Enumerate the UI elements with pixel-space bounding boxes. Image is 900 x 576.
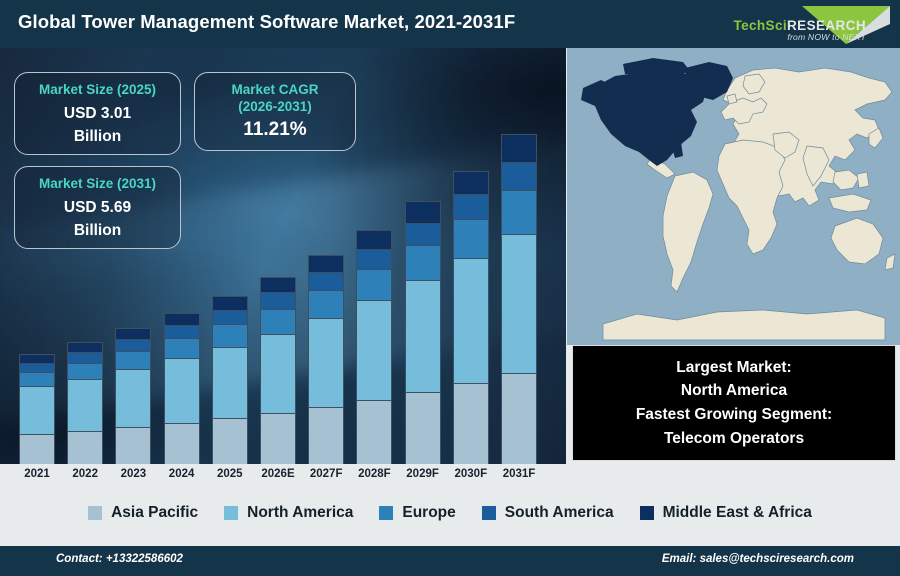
bar-segment-middle-east-africa (212, 296, 248, 309)
bar-segment-middle-east-africa (405, 201, 441, 222)
bar-segment-south-america (212, 310, 248, 324)
bar-segment-europe (115, 351, 151, 369)
bar-segment-south-america (501, 162, 537, 190)
bar-segment-europe (356, 269, 392, 300)
x-axis-labels: 202120222023202420252026E2027F2028F2029F… (0, 464, 566, 492)
stat-card-subtitle: (2026-2031) (195, 99, 355, 116)
stat-card-title: Market Size (2031) (15, 176, 180, 193)
bar-segment-middle-east-africa (67, 342, 103, 352)
bar-2023 (115, 328, 151, 464)
logo-tagline: from NOW to NEXT (787, 32, 866, 42)
bar-segment-asia-pacific (356, 400, 392, 464)
callout-line-3: Fastest Growing Segment: (636, 403, 832, 427)
legend-item-europe[interactable]: Europe (379, 504, 455, 522)
bar-segment-asia-pacific (19, 434, 55, 464)
map-region-uk (727, 94, 737, 104)
legend-swatch-north-america (224, 506, 238, 520)
bar-segment-asia-pacific (501, 373, 537, 464)
bar-segment-middle-east-africa (164, 313, 200, 325)
bar-segment-south-america (260, 292, 296, 308)
header-bar: Global Tower Management Software Market,… (0, 0, 900, 48)
callout-line-4: Telecom Operators (664, 427, 804, 451)
infographic-canvas: Global Tower Management Software Market,… (0, 0, 900, 576)
legend-swatch-south-america (482, 506, 496, 520)
bar-segment-asia-pacific (164, 423, 200, 464)
map-region-philippines (857, 172, 869, 188)
footer-email: Email: sales@techsciresearch.com (662, 553, 854, 565)
bar-segment-south-america (405, 223, 441, 246)
bar-segment-asia-pacific (308, 407, 344, 464)
bar-segment-south-america (453, 194, 489, 219)
bar-segment-europe (501, 190, 537, 233)
stat-card-title: Market Size (2025) (15, 82, 180, 99)
logo-name-part2: RESEARCH (787, 18, 866, 33)
legend-item-middle-east-africa[interactable]: Middle East & Africa (640, 504, 812, 522)
legend-label-south-america: South America (505, 504, 614, 522)
bar-2029F (405, 201, 441, 464)
bar-segment-europe (453, 219, 489, 258)
bar-segment-north-america (164, 358, 200, 422)
bar-segment-europe (212, 324, 248, 347)
bar-segment-middle-east-africa (115, 328, 151, 339)
bar-segment-north-america (405, 280, 441, 391)
bar-segment-asia-pacific (115, 427, 151, 464)
bar-segment-south-america (115, 339, 151, 351)
chart-legend: Asia PacificNorth AmericaEuropeSouth Ame… (0, 492, 900, 534)
bar-segment-asia-pacific (405, 392, 441, 464)
bar-segment-north-america (19, 386, 55, 434)
page-title: Global Tower Management Software Market,… (18, 11, 515, 33)
bar-2031F (501, 134, 537, 464)
stat-card-value: USD 5.69 (15, 199, 180, 217)
bar-segment-europe (67, 363, 103, 379)
bar-segment-europe (405, 245, 441, 280)
bar-segment-south-america (19, 363, 55, 372)
bar-2028F (356, 230, 392, 464)
legend-label-middle-east-africa: Middle East & Africa (663, 504, 812, 522)
bar-2030F (453, 171, 489, 464)
legend-label-asia-pacific: Asia Pacific (111, 504, 198, 522)
world-map (567, 48, 900, 345)
bar-segment-asia-pacific (212, 418, 248, 464)
stat-card-market-size-2025: Market Size (2025) USD 3.01 Billion (14, 72, 181, 155)
bar-2021 (19, 354, 55, 464)
bar-segment-middle-east-africa (501, 134, 537, 162)
bar-segment-middle-east-africa (356, 230, 392, 249)
stat-card-market-cagr: Market CAGR (2026-2031) 11.21% (194, 72, 356, 151)
logo-wordmark: TechSciRESEARCH (733, 18, 866, 33)
legend-swatch-europe (379, 506, 393, 520)
bar-segment-north-america (115, 369, 151, 427)
bar-2022 (67, 342, 103, 464)
bar-segment-north-america (501, 234, 537, 373)
bar-segment-europe (308, 290, 344, 318)
techsci-research-logo: TechSciRESEARCH from NOW to NEXT (716, 2, 894, 46)
bar-segment-asia-pacific (260, 413, 296, 464)
footer-contact: Contact: +13322586602 (56, 553, 183, 565)
bar-segment-north-america (356, 300, 392, 399)
legend-label-north-america: North America (247, 504, 353, 522)
stat-card-unit: Billion (15, 128, 180, 146)
legend-swatch-middle-east-africa (640, 506, 654, 520)
bar-2026E (260, 277, 296, 464)
legend-item-asia-pacific[interactable]: Asia Pacific (88, 504, 198, 522)
callout-line-1: Largest Market: (676, 356, 791, 380)
legend-item-south-america[interactable]: South America (482, 504, 614, 522)
bar-2024 (164, 313, 200, 464)
stat-card-title: Market CAGR (195, 82, 355, 99)
callout-line-2: North America (681, 379, 787, 403)
stat-card-value: 11.21% (195, 119, 355, 141)
bar-segment-asia-pacific (67, 431, 103, 464)
bar-2027F (308, 255, 344, 464)
bar-segment-north-america (260, 334, 296, 413)
bar-segment-middle-east-africa (308, 255, 344, 272)
legend-swatch-asia-pacific (88, 506, 102, 520)
bar-2025 (212, 296, 248, 464)
bar-segment-asia-pacific (453, 383, 489, 464)
bar-segment-middle-east-africa (260, 277, 296, 292)
bar-segment-south-america (356, 249, 392, 269)
logo-name-part1: TechSci (733, 18, 787, 33)
bar-segment-europe (164, 338, 200, 358)
bar-segment-north-america (212, 347, 248, 418)
stat-card-value: USD 3.01 (15, 105, 180, 123)
legend-label-europe: Europe (402, 504, 455, 522)
bar-segment-europe (260, 309, 296, 334)
bar-segment-middle-east-africa (453, 171, 489, 195)
callout-box: Largest Market: North America Fastest Gr… (572, 345, 896, 461)
bar-segment-south-america (164, 325, 200, 338)
stat-card-unit: Billion (15, 222, 180, 240)
world-map-svg (567, 48, 900, 345)
bar-segment-north-america (308, 318, 344, 407)
bar-segment-south-america (67, 352, 103, 362)
stat-card-market-size-2031: Market Size (2031) USD 5.69 Billion (14, 166, 181, 249)
bar-segment-south-america (308, 272, 344, 290)
bar-segment-europe (19, 372, 55, 386)
bar-segment-middle-east-africa (19, 354, 55, 363)
x-axis-label-2031F: 2031F (491, 468, 547, 480)
legend-item-north-america[interactable]: North America (224, 504, 353, 522)
footer-bar: Contact: +13322586602 Email: sales@techs… (0, 546, 900, 576)
bar-segment-north-america (453, 258, 489, 383)
bar-segment-north-america (67, 379, 103, 431)
